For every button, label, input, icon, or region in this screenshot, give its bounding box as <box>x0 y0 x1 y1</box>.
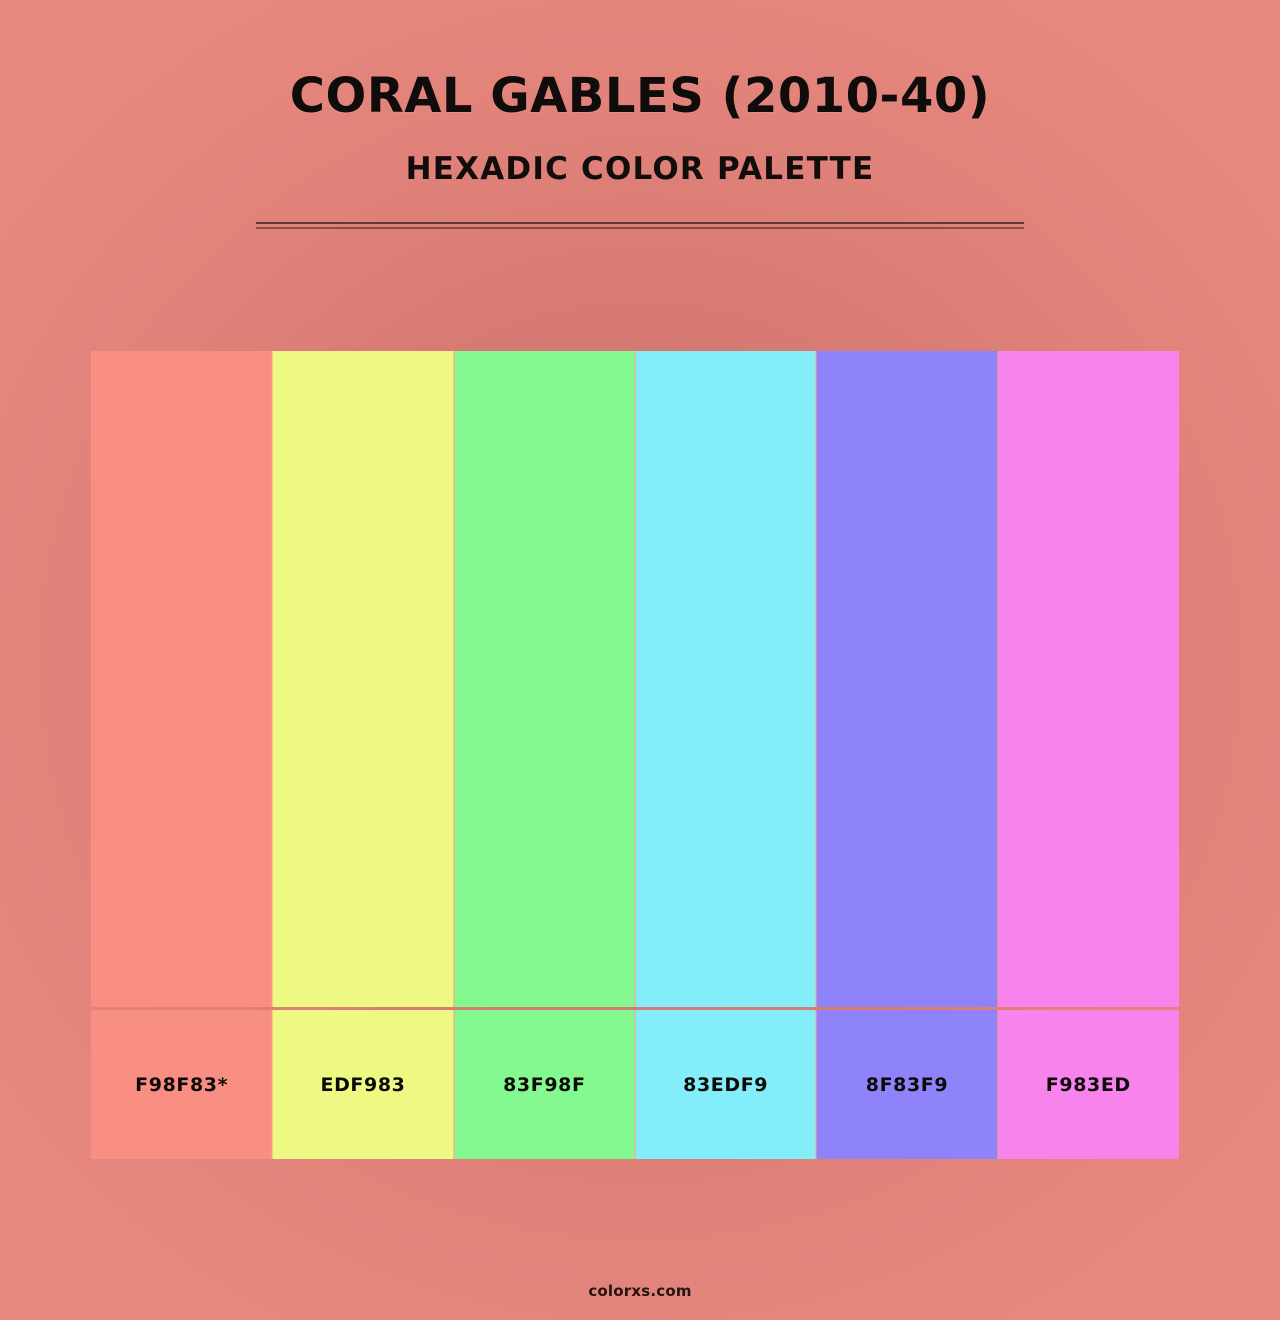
color-hex-label: F98F83* <box>135 1074 228 1096</box>
color-swatch-5[interactable] <box>816 351 997 1007</box>
site-watermark: colorxs.com <box>588 1282 691 1300</box>
color-hex-label: 8F83F9 <box>866 1074 948 1096</box>
color-palette: F98F83* EDF983 83F98F 83EDF9 8F83F9 F983… <box>91 351 1179 1159</box>
color-label-cell-2[interactable]: EDF983 <box>272 1010 453 1159</box>
color-hex-label: EDF983 <box>320 1074 405 1096</box>
color-swatch-2[interactable] <box>272 351 453 1007</box>
color-swatch-1[interactable] <box>91 351 272 1007</box>
page-footer: colorxs.com <box>0 1281 1280 1300</box>
color-label-row: F98F83* EDF983 83F98F 83EDF9 8F83F9 F983… <box>91 1010 1179 1159</box>
color-label-cell-5[interactable]: 8F83F9 <box>816 1010 997 1159</box>
color-label-cell-4[interactable]: 83EDF9 <box>635 1010 816 1159</box>
color-swatch-4[interactable] <box>635 351 816 1007</box>
color-hex-label: 83F98F <box>503 1074 585 1096</box>
page-header: CORAL GABLES (2010-40) HEXADIC COLOR PAL… <box>0 0 1280 229</box>
color-label-cell-1[interactable]: F98F83* <box>91 1010 272 1159</box>
color-label-cell-6[interactable]: F983ED <box>998 1010 1179 1159</box>
divider-line-top <box>256 222 1024 224</box>
header-divider <box>256 222 1024 229</box>
color-swatch-3[interactable] <box>454 351 635 1007</box>
color-hex-label: 83EDF9 <box>683 1074 768 1096</box>
page-title: CORAL GABLES (2010-40) <box>0 70 1280 124</box>
color-swatch-row <box>91 351 1179 1007</box>
divider-line-bottom <box>256 227 1024 229</box>
color-label-cell-3[interactable]: 83F98F <box>454 1010 635 1159</box>
color-swatch-6[interactable] <box>998 351 1179 1007</box>
palette-page: CORAL GABLES (2010-40) HEXADIC COLOR PAL… <box>0 0 1280 1320</box>
color-hex-label: F983ED <box>1046 1074 1131 1096</box>
page-subtitle: HEXADIC COLOR PALETTE <box>0 152 1280 187</box>
